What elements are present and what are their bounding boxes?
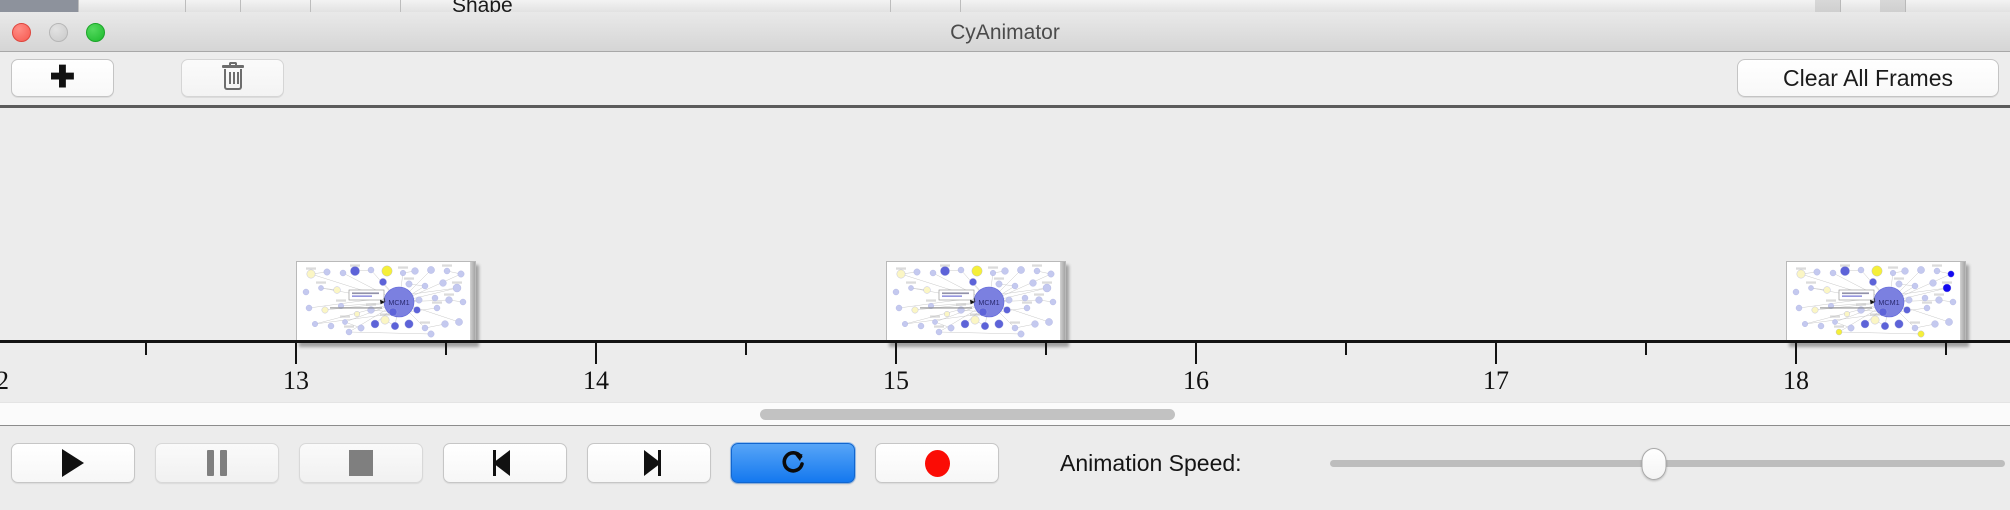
background-partial-label: Shape — [452, 0, 513, 12]
ruler-tick — [295, 343, 297, 364]
ruler-tick — [1945, 343, 1947, 355]
ruler-tick — [1045, 343, 1047, 355]
pause-icon — [207, 450, 227, 476]
ruler-tick — [595, 343, 597, 364]
background-selected-tab — [0, 0, 78, 12]
ruler-tick — [145, 343, 147, 355]
ruler-tick — [1795, 343, 1797, 364]
ruler-tick-label: 16 — [1183, 366, 1209, 396]
plus-icon: ✚ — [50, 63, 75, 93]
background-divider — [78, 0, 79, 12]
network-graph-preview: MCM1 — [1787, 262, 1965, 342]
skip-forward-icon — [637, 450, 661, 476]
svg-text:MCM1: MCM1 — [978, 298, 999, 307]
slider-knob[interactable] — [1642, 448, 1667, 480]
cyanimator-window: CyAnimator ✚ Clear All Frames MCM1MCM1MC… — [0, 12, 2010, 510]
ruler-tick-label: 13 — [283, 366, 309, 396]
background-tab — [1815, 0, 1841, 12]
ruler-tick — [895, 343, 897, 364]
ruler-tick-label: 15 — [883, 366, 909, 396]
stop-button[interactable] — [299, 443, 423, 483]
frame-edge-shadow — [1060, 261, 1066, 343]
page-title: CyAnimator — [0, 21, 2010, 45]
ruler-tick — [745, 343, 747, 355]
skip-to-end-button[interactable] — [587, 443, 711, 483]
frame-thumbnail-2[interactable]: MCM1 — [886, 261, 1066, 343]
ruler-tick — [445, 343, 447, 355]
ruler-axis — [0, 340, 2010, 343]
timeline-panel[interactable]: MCM1MCM1MCM1 Seconds 12131415161718 — [0, 108, 2010, 402]
background-divider — [185, 0, 186, 12]
playback-toolbar: Animation Speed: — [0, 426, 2010, 510]
ruler-tick — [1495, 343, 1497, 364]
background-tab — [1880, 0, 1906, 12]
ruler-tick-label: 12 — [0, 366, 9, 396]
background-divider — [310, 0, 311, 12]
ruler-tick — [1195, 343, 1197, 364]
scrollbar-thumb[interactable] — [760, 409, 1175, 420]
ruler-tick-label: 14 — [583, 366, 609, 396]
svg-text:MCM1: MCM1 — [1878, 298, 1899, 307]
timeline-horizontal-scrollbar[interactable] — [0, 402, 2010, 426]
ruler-tick-label: 18 — [1783, 366, 1809, 396]
stop-icon — [349, 450, 373, 476]
window-titlebar: CyAnimator — [0, 12, 2010, 52]
record-icon — [925, 450, 950, 477]
network-graph-preview: MCM1 — [887, 262, 1065, 342]
timeline-ruler: Seconds 12131415161718 — [0, 340, 2010, 402]
slider-track[interactable] — [1330, 460, 2005, 467]
pause-button[interactable] — [155, 443, 279, 483]
loop-button[interactable] — [731, 443, 855, 483]
frame-thumbnail-1[interactable]: MCM1 — [296, 261, 476, 343]
delete-frame-button[interactable] — [181, 59, 284, 97]
ruler-tick-label: 17 — [1483, 366, 1509, 396]
animation-speed-slider[interactable] — [1330, 443, 2005, 483]
skip-to-start-button[interactable] — [443, 443, 567, 483]
frame-thumbnail-3[interactable]: MCM1 — [1786, 261, 1966, 343]
network-graph-preview: MCM1 — [297, 262, 475, 342]
frame-edge-shadow — [470, 261, 476, 343]
animation-speed-label: Animation Speed: — [1060, 450, 1242, 477]
frame-edge-shadow — [1960, 261, 1966, 343]
play-button[interactable] — [11, 443, 135, 483]
frame-toolbar: ✚ Clear All Frames — [0, 52, 2010, 105]
background-divider — [240, 0, 241, 12]
clear-all-frames-label: Clear All Frames — [1783, 65, 1953, 92]
loop-icon — [778, 448, 808, 478]
trash-icon — [222, 65, 244, 91]
skip-back-icon — [493, 450, 517, 476]
add-frame-button[interactable]: ✚ — [11, 59, 114, 97]
background-window-strip: Shape — [0, 0, 2010, 12]
play-icon — [62, 449, 84, 477]
ruler-tick — [1645, 343, 1647, 355]
background-divider — [960, 0, 961, 12]
background-divider — [400, 0, 401, 12]
clear-all-frames-button[interactable]: Clear All Frames — [1737, 59, 1999, 97]
background-divider — [890, 0, 891, 12]
record-button[interactable] — [875, 443, 999, 483]
svg-text:MCM1: MCM1 — [388, 298, 409, 307]
ruler-tick — [1345, 343, 1347, 355]
